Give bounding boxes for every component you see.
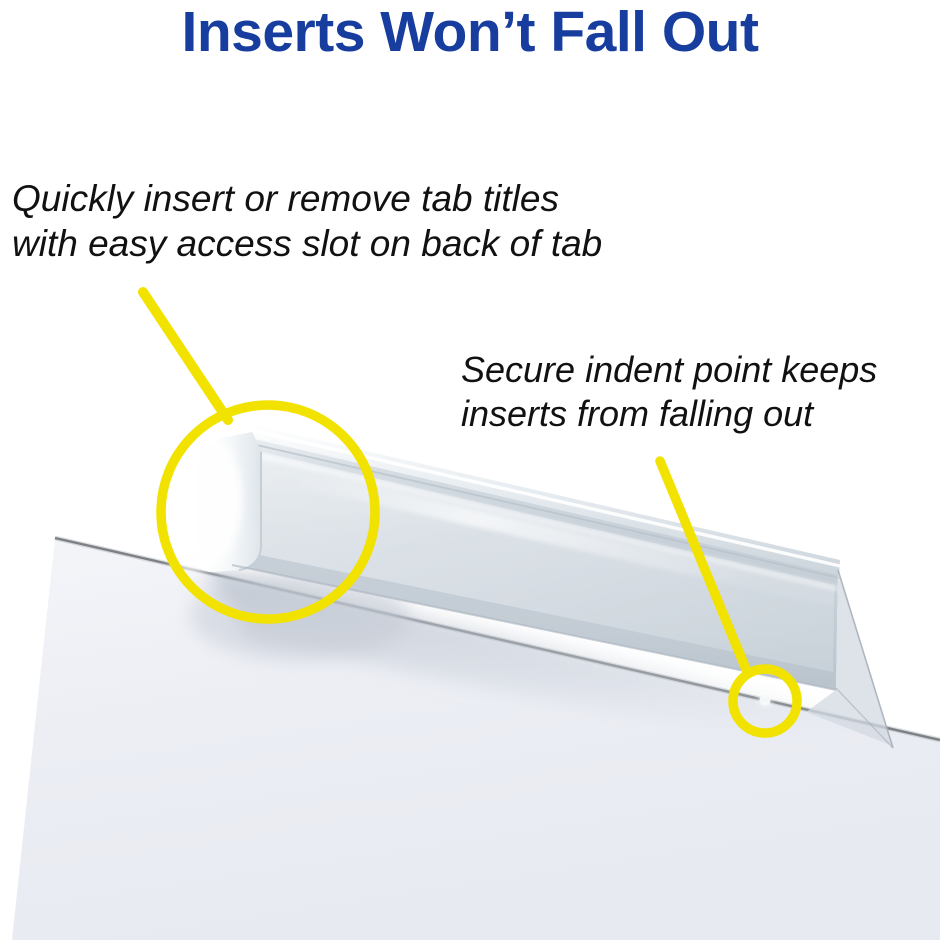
leader-line-easy-access: [143, 292, 228, 420]
callout-secure-indent-line-2: inserts from falling out: [461, 392, 877, 436]
callout-secure-indent-point: Secure indent point keeps inserts from f…: [461, 348, 877, 436]
callout-easy-access-line-2: with easy access slot on back of tab: [12, 221, 602, 266]
product-illustration: [0, 0, 940, 940]
page-title: Inserts Won’t Fall Out: [0, 4, 940, 61]
callout-easy-access-slot: Quickly insert or remove tab titles with…: [12, 176, 602, 266]
callout-easy-access-line-1: Quickly insert or remove tab titles: [12, 176, 602, 221]
callout-secure-indent-line-1: Secure indent point keeps: [461, 348, 877, 392]
product-feature-graphic: Inserts Won’t Fall Out Quickly insert or…: [0, 0, 940, 940]
